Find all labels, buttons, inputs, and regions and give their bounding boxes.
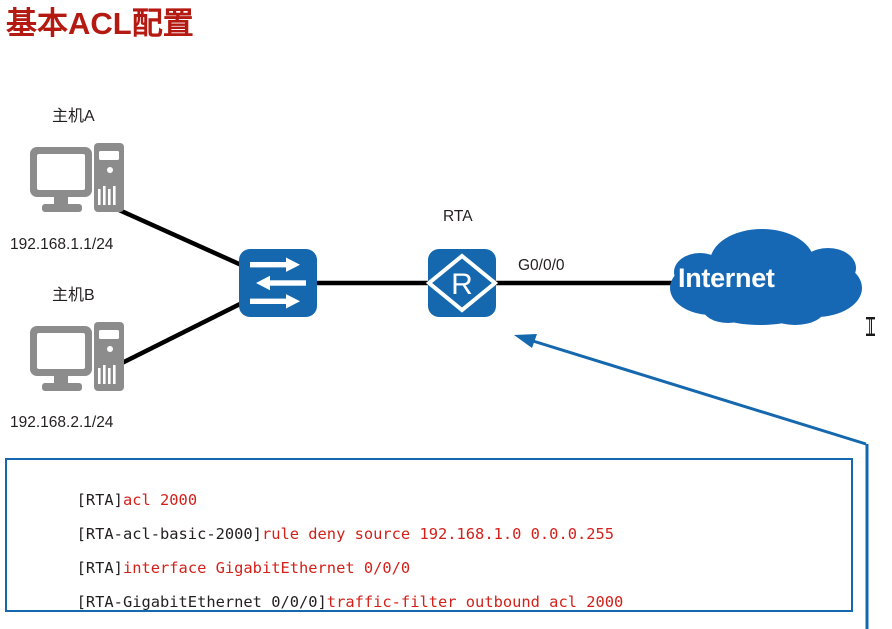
host-b-ip-label: 192.168.2.1/24 (10, 415, 113, 431)
host-a-ip-label: 192.168.1.1/24 (10, 237, 113, 253)
router-name-label: RTA (443, 209, 473, 225)
cli-command: rule deny source 192.168.1.0 0.0.0.255 (262, 525, 614, 543)
host-a-icon (30, 143, 124, 212)
cli-prompt: [RTA-acl-basic-2000] (77, 525, 262, 543)
switch-icon (239, 249, 317, 317)
cli-command: interface GigabitEthernet 0/0/0 (123, 559, 410, 577)
cli-command: acl 2000 (123, 491, 197, 509)
text-ibeam-cursor (865, 317, 876, 336)
slide-canvas: 基本ACL配置 (0, 0, 892, 629)
router-icon: R (428, 249, 496, 317)
cli-prompt: [RTA] (77, 559, 123, 577)
callout-arrowhead-icon (514, 334, 537, 348)
link-hostB-switch (112, 300, 248, 368)
cli-prompt: [RTA-GigabitEthernet 0/0/0] (77, 593, 327, 611)
cli-command: traffic-filter outbound acl 2000 (327, 593, 624, 611)
link-hostA-switch (108, 205, 248, 268)
host-a-label: 主机A (52, 109, 95, 125)
host-b-label: 主机B (52, 288, 95, 304)
cli-prompt: [RTA] (77, 491, 123, 509)
host-b-icon (30, 322, 124, 391)
interface-label: G0/0/0 (518, 258, 565, 274)
cli-line: [RTA-GigabitEthernet 0/0/0]traffic-filte… (21, 580, 623, 626)
svg-text:R: R (451, 268, 473, 301)
cloud-label: Internet (678, 265, 775, 292)
cli-config-box: [RTA]acl 2000 [RTA-acl-basic-2000]rule d… (5, 458, 853, 612)
topology-links (108, 205, 690, 368)
